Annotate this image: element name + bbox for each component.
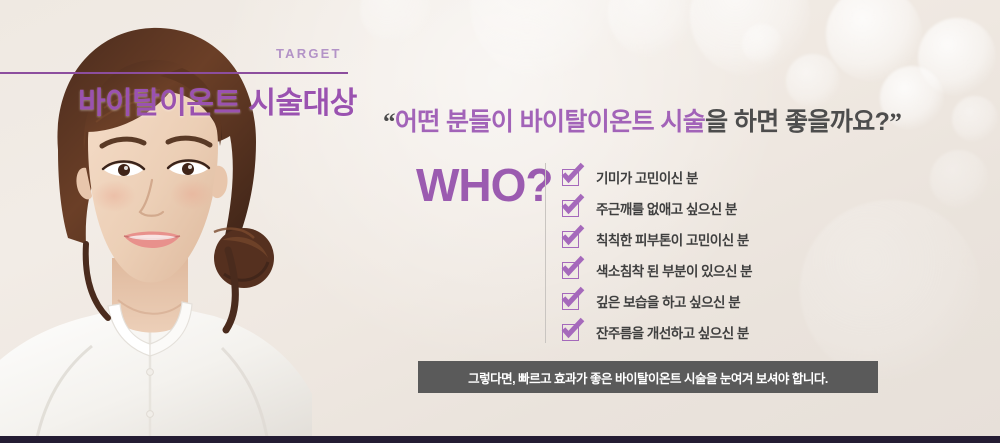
question-purple-text: 어떤 분들이 바이탈이온트 시술 [395, 108, 705, 136]
list-item-label: 칙칙한 피부톤이 고민이신 분 [596, 229, 749, 249]
list-item: 색소침착 된 부분이 있으신 분 [562, 258, 752, 282]
list-item: 기미가 고민이신 분 [562, 165, 752, 189]
close-quote-mark: ” [889, 109, 901, 136]
target-checklist: 기미가 고민이신 분 주근깨를 없애고 싶으신 분 칙칙한 피부톤이 고민이신 … [562, 165, 752, 344]
question-dark-text: 을 하면 좋을까요? [705, 108, 889, 136]
bokeh-circle [786, 54, 840, 108]
target-banner: TARGET 바이탈이온트 시술대상 “어떤 분들이 바이탈이온트 시술을 하면… [0, 0, 1000, 443]
check-icon [562, 262, 579, 279]
bokeh-circle [930, 150, 988, 208]
bokeh-circle [952, 96, 998, 142]
who-label: WHO? [416, 158, 553, 212]
list-item: 칙칙한 피부톤이 고민이신 분 [562, 227, 752, 251]
bokeh-circle [690, 0, 810, 76]
list-item-label: 잔주름을 개선하고 싶으신 분 [596, 322, 749, 342]
page-title: 바이탈이온트 시술대상 [78, 78, 357, 122]
question-headline: “어떤 분들이 바이탈이온트 시술을 하면 좋을까요?” [383, 102, 901, 138]
list-item: 잔주름을 개선하고 싶으신 분 [562, 320, 752, 344]
bokeh-circle [742, 24, 782, 64]
list-item: 깊은 보습을 하고 싶으신 분 [562, 289, 752, 313]
bottom-edge-strip [0, 436, 1000, 443]
list-item-label: 깊은 보습을 하고 싶으신 분 [596, 291, 740, 311]
check-icon [562, 293, 579, 310]
title-divider-rule [0, 72, 348, 74]
list-item-label: 기미가 고민이신 분 [596, 167, 698, 187]
check-icon [562, 231, 579, 248]
vertical-divider [545, 163, 546, 343]
open-quote-mark: “ [383, 109, 395, 136]
model-portrait [0, 0, 330, 443]
bokeh-circle [800, 200, 980, 380]
callout-bar: 그렇다면, 빠르고 효과가 좋은 바이탈이온트 시술을 눈여겨 보셔야 합니다. [418, 361, 878, 393]
check-icon [562, 169, 579, 186]
target-kicker-label: TARGET [276, 46, 342, 61]
bokeh-circle [360, 0, 430, 44]
bokeh-circle [470, 0, 620, 80]
bokeh-circle [608, 0, 694, 56]
check-icon [562, 200, 579, 217]
check-icon [562, 324, 579, 341]
list-item-label: 색소침착 된 부분이 있으신 분 [596, 260, 752, 280]
bokeh-circle [918, 18, 996, 96]
bokeh-circle [826, 0, 922, 82]
callout-text: 그렇다면, 빠르고 효과가 좋은 바이탈이온트 시술을 눈여겨 보셔야 합니다. [468, 368, 828, 387]
list-item: 주근깨를 없애고 싶으신 분 [562, 196, 752, 220]
list-item-label: 주근깨를 없애고 싶으신 분 [596, 198, 737, 218]
